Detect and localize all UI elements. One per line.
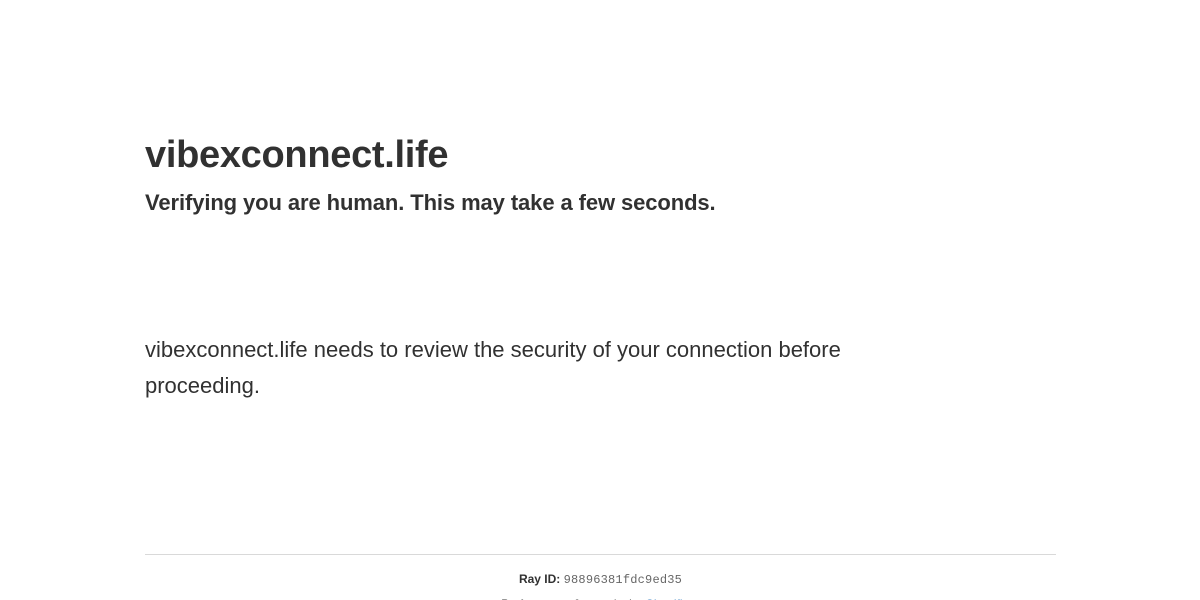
challenge-page: vibexconnect.life Verifying you are huma… xyxy=(0,0,1200,600)
verification-status-text: Verifying you are human. This may take a… xyxy=(145,178,1056,218)
ray-id-value: 98896381fdc9ed35 xyxy=(564,573,682,587)
challenge-description: vibexconnect.life needs to review the se… xyxy=(145,326,945,404)
turnstile-challenge-widget[interactable] xyxy=(145,226,445,326)
performance-security-line: Performance & security by Cloudflare xyxy=(145,588,1056,600)
page-title: vibexconnect.life xyxy=(145,0,1056,178)
challenge-content: vibexconnect.life Verifying you are huma… xyxy=(145,0,1056,404)
footer: Ray ID: 98896381fdc9ed35 Performance & s… xyxy=(145,554,1056,600)
ray-id-line: Ray ID: 98896381fdc9ed35 xyxy=(145,555,1056,588)
ray-id-label: Ray ID: xyxy=(519,572,560,586)
